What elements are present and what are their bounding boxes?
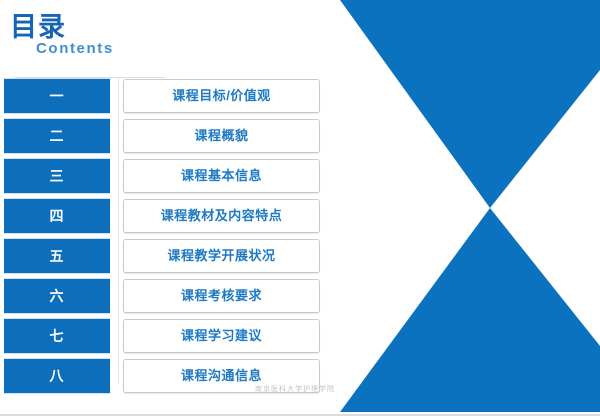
toc-number-label: 四 — [50, 208, 65, 224]
toc-item-button[interactable]: 课程基本信息 — [123, 159, 320, 193]
toc-row[interactable]: 七 课程学习建议 — [0, 318, 330, 356]
table-of-contents: 一 课程目标/价值观 二 课程概貌 三 课程基本信息 四 — [0, 78, 330, 398]
slide-title-block: 目录 Contents — [10, 12, 200, 68]
toc-number-label: 八 — [50, 368, 65, 384]
toc-number-label: 七 — [50, 328, 65, 344]
toc-number-badge: 七 — [4, 318, 110, 354]
toc-number-badge: 四 — [4, 198, 110, 234]
toc-number-label: 三 — [50, 168, 65, 184]
toc-row[interactable]: 一 课程目标/价值观 — [0, 78, 330, 116]
toc-item-label: 课程教学开展状况 — [167, 248, 275, 264]
toc-item-button[interactable]: 课程教学开展状况 — [123, 239, 320, 273]
toc-item-label: 课程教材及内容特点 — [161, 208, 283, 224]
toc-number-badge: 二 — [4, 118, 110, 154]
toc-row[interactable]: 二 课程概貌 — [0, 118, 330, 156]
toc-item-button[interactable]: 课程学习建议 — [123, 319, 320, 353]
toc-row[interactable]: 六 课程考核要求 — [0, 278, 330, 316]
toc-number-label: 六 — [50, 288, 65, 304]
toc-number-badge: 八 — [4, 358, 110, 394]
toc-number-badge: 六 — [4, 278, 110, 314]
toc-number-label: 一 — [50, 88, 65, 104]
toc-item-label: 课程基本信息 — [181, 168, 262, 184]
page-subtitle: Contents — [36, 40, 114, 58]
toc-item-label: 课程概貌 — [194, 128, 248, 144]
footer-institution: 南京医科大学护理学院 — [255, 385, 335, 395]
toc-item-label: 课程学习建议 — [181, 328, 262, 344]
toc-item-button[interactable]: 课程教材及内容特点 — [123, 199, 320, 233]
chevron-shape — [340, 0, 600, 412]
toc-number-label: 五 — [50, 248, 65, 264]
toc-row[interactable]: 三 课程基本信息 — [0, 158, 330, 196]
toc-item-button[interactable]: 课程概貌 — [123, 119, 320, 153]
toc-item-button[interactable]: 课程考核要求 — [123, 279, 320, 313]
toc-item-label: 课程沟通信息 — [181, 368, 262, 384]
toc-number-label: 二 — [50, 128, 65, 144]
toc-number-badge: 五 — [4, 238, 110, 274]
toc-item-button[interactable]: 课程目标/价值观 — [123, 79, 320, 113]
toc-item-label: 课程考核要求 — [181, 288, 262, 304]
presentation-slide: 目录 Contents 一 课程目标/价值观 二 课程概貌 三 — [0, 0, 600, 416]
toc-number-badge: 三 — [4, 158, 110, 194]
toc-row[interactable]: 五 课程教学开展状况 — [0, 238, 330, 276]
toc-number-badge: 一 — [4, 78, 110, 114]
page-title: 目录 — [10, 12, 66, 42]
toc-row[interactable]: 四 课程教材及内容特点 — [0, 198, 330, 236]
toc-item-label: 课程目标/价值观 — [172, 88, 271, 104]
